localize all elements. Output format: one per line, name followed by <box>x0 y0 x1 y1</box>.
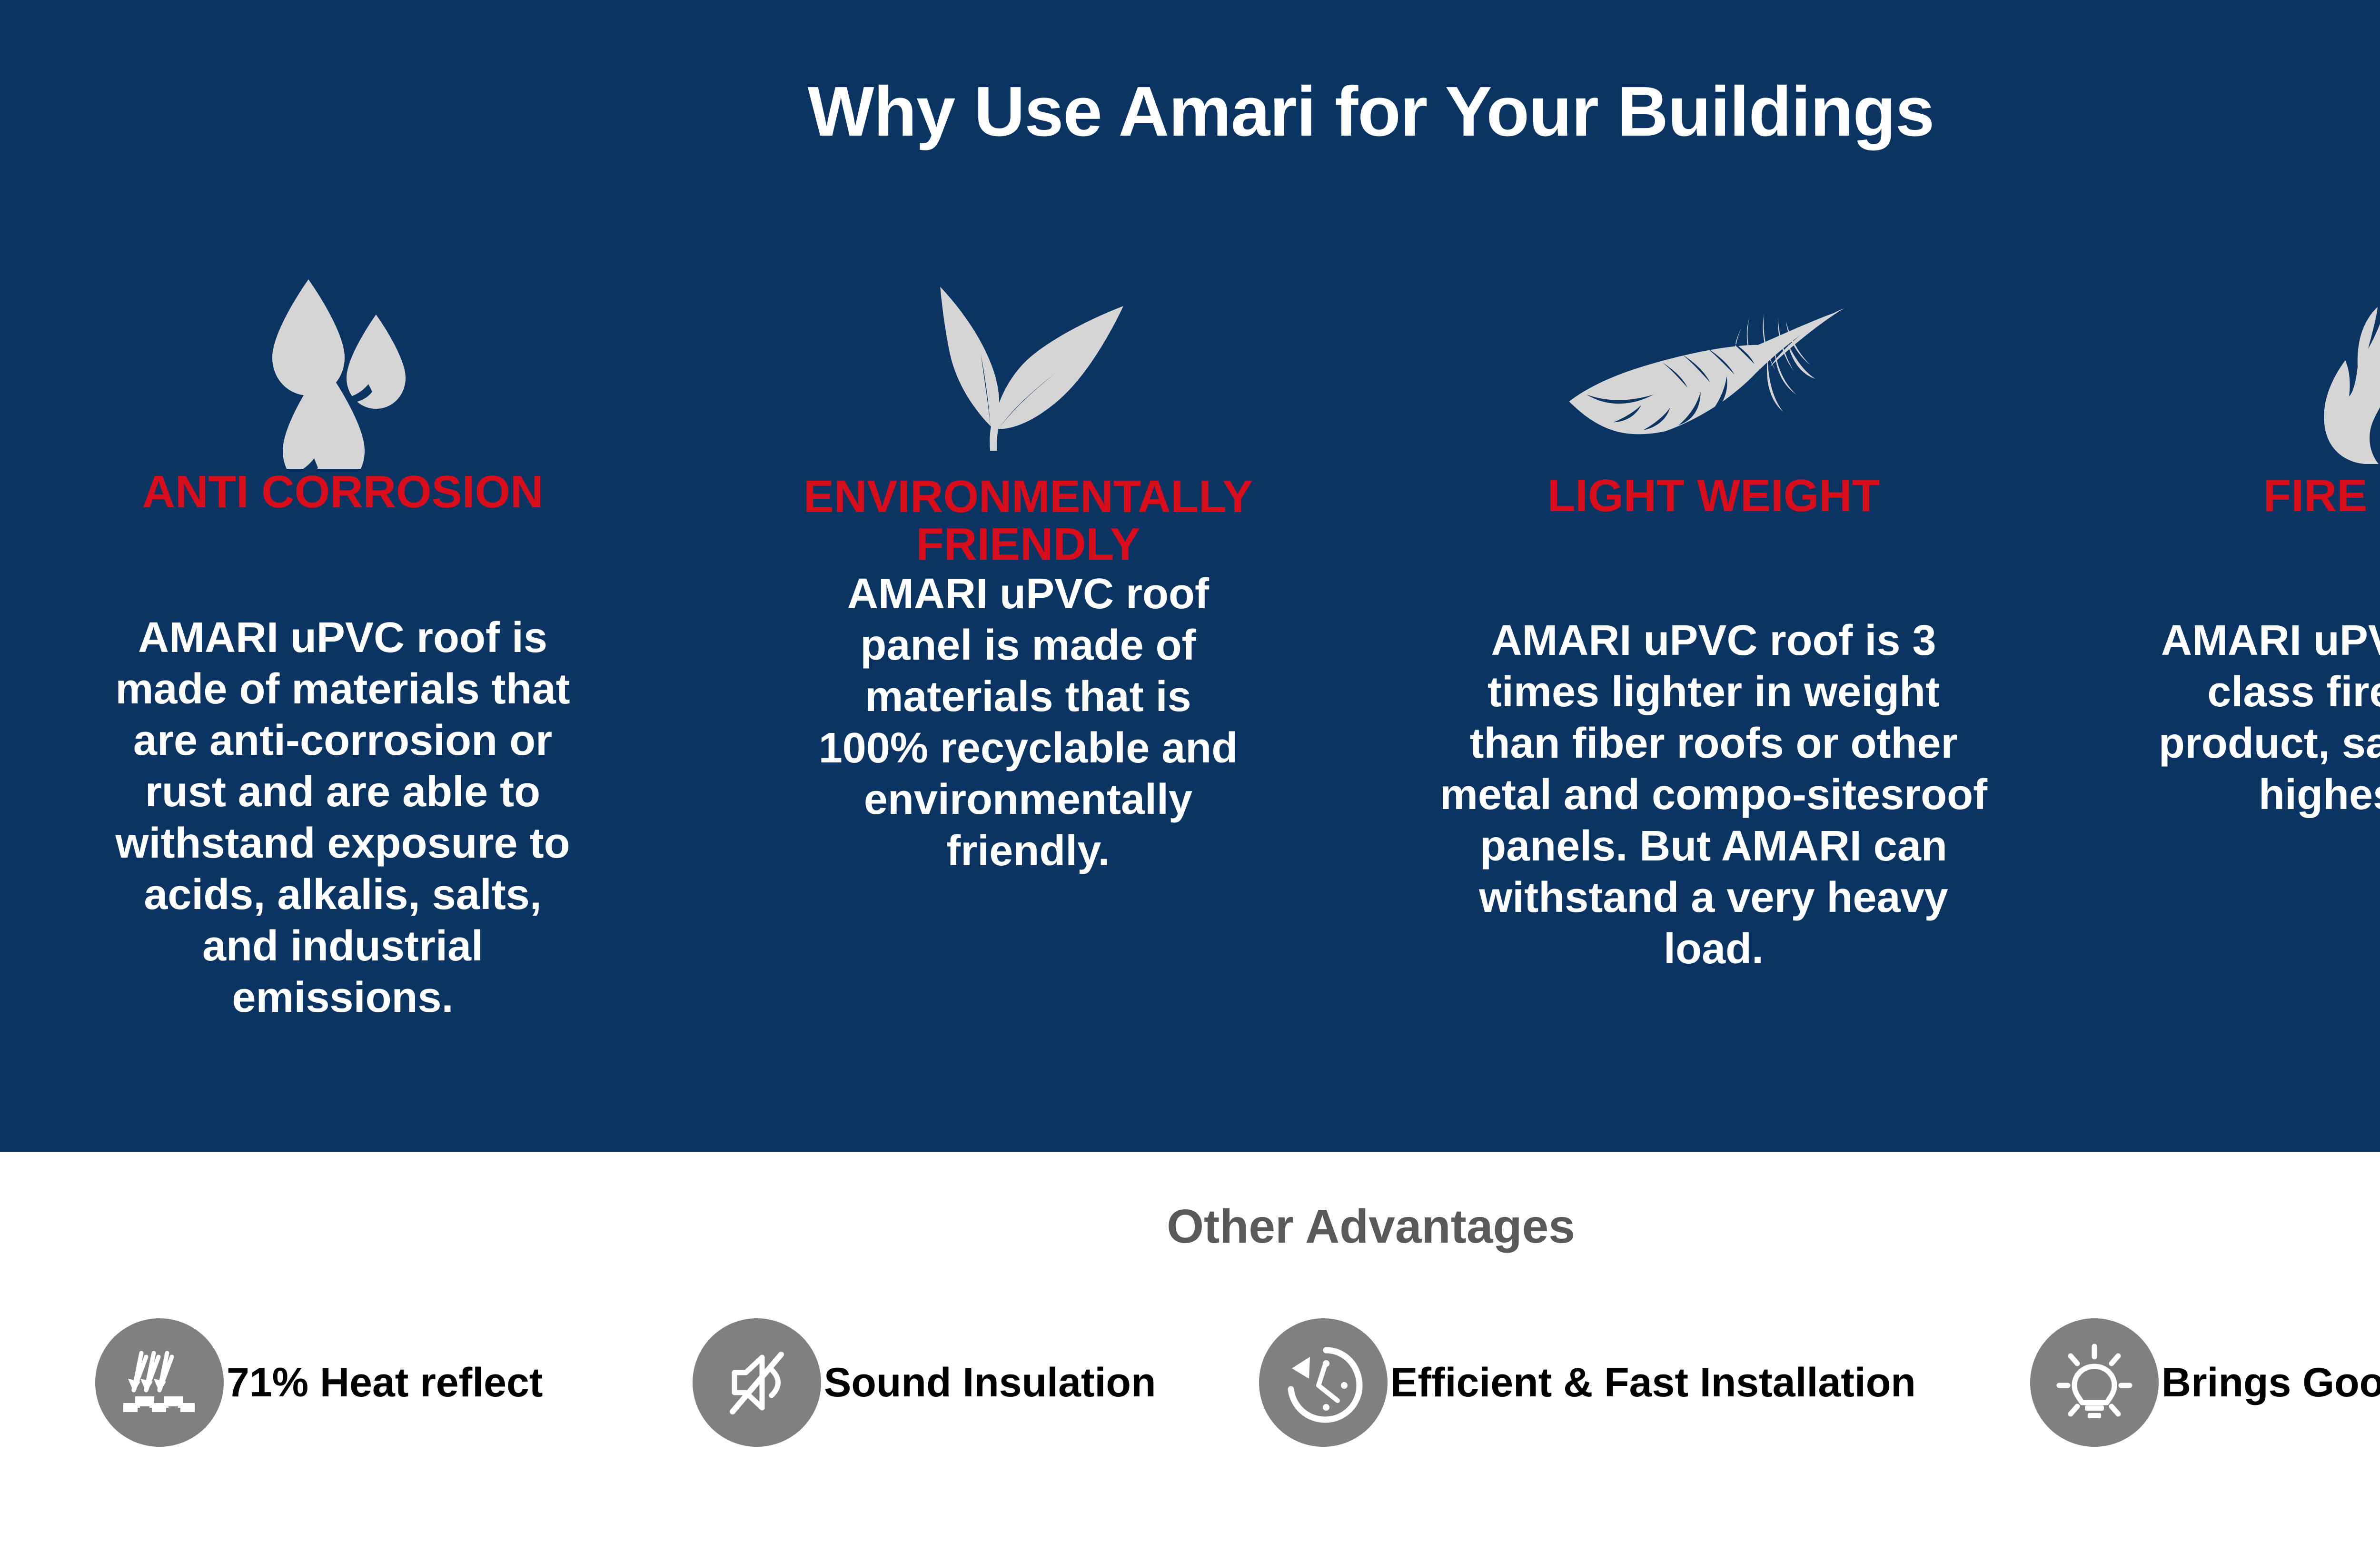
advantage-item-sound-insulation[interactable]: Sound Insulation <box>681 1318 1247 1447</box>
leaf-icon <box>685 267 1371 471</box>
water-drops-icon <box>0 267 685 471</box>
feature-heading: LIGHT WEIGHT <box>1505 472 1923 572</box>
other-advantages-panel: Other Advantages <box>0 1152 2380 1542</box>
infographic-page: Why Use Amari for Your Buildings ANTI CO… <box>0 0 2380 1542</box>
advantage-item-good-lighting[interactable]: Brings Good Lighting <box>2018 1318 2380 1447</box>
feature-columns: ANTI CORROSION AMARI uPVC roof is made o… <box>0 267 2380 1123</box>
feature-body: AMARI uPVC roof is B1 class fire retarda… <box>2056 615 2380 820</box>
feature-column-light-weight: LIGHT WEIGHT AMARI uPVC roof is 3 times … <box>1371 267 2056 975</box>
advantage-item-heat-reflect[interactable]: 71% Heat reflect <box>0 1318 681 1447</box>
advantage-label: Sound Insulation <box>824 1359 1156 1406</box>
advantage-label: Efficient & Fast Installation <box>1390 1359 1916 1406</box>
feature-column-fire-class: FIRE CLASS AMARI uPVC roof is B1 class f… <box>2056 267 2380 820</box>
feature-heading: FIRE CLASS <box>2221 472 2380 572</box>
feature-column-environmentally-friendly: ENVIRONMENTALLY FRIENDLY AMARI uPVC roof… <box>685 267 1371 877</box>
feature-heading: ANTI CORROSION <box>99 468 586 568</box>
features-panel: Why Use Amari for Your Buildings ANTI CO… <box>0 0 2380 1152</box>
heat-reflect-icon <box>95 1318 224 1447</box>
lightbulb-icon <box>2030 1318 2159 1447</box>
sound-mute-icon <box>693 1318 821 1447</box>
flame-icon <box>2056 267 2380 471</box>
other-advantages-title: Other Advantages <box>0 1199 2380 1254</box>
feature-column-anti-corrosion: ANTI CORROSION AMARI uPVC roof is made o… <box>0 267 685 1023</box>
stopwatch-icon <box>1259 1318 1388 1447</box>
other-advantages-list: 71% Heat reflect Sound Insulation <box>0 1318 2380 1447</box>
feature-body: AMARI uPVC roof is 3 times lighter in we… <box>1371 615 2056 975</box>
advantage-item-fast-installation[interactable]: Efficient & Fast Installation <box>1247 1318 2018 1447</box>
advantage-label: Brings Good Lighting <box>2162 1359 2380 1406</box>
feature-heading: ENVIRONMENTALLY FRIENDLY <box>685 473 1371 573</box>
advantage-label: 71% Heat reflect <box>227 1359 543 1406</box>
feature-body: AMARI uPVC roof is made of materials tha… <box>0 612 685 1023</box>
feather-icon <box>1371 267 2056 471</box>
feature-body: AMARI uPVC roof panel is made of materia… <box>685 568 1371 877</box>
page-title: Why Use Amari for Your Buildings <box>0 71 2380 152</box>
